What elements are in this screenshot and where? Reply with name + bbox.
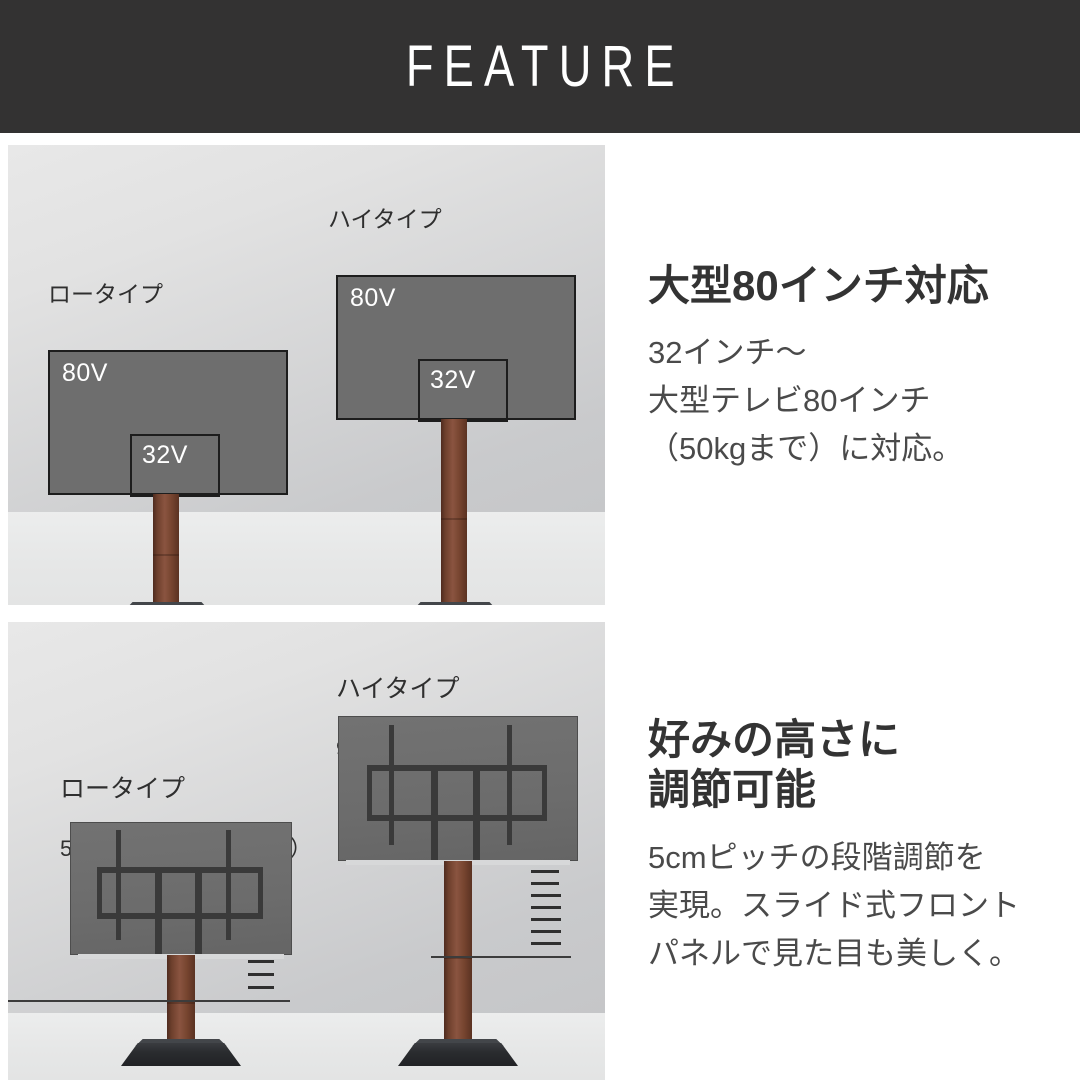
feature-header: FEATURE [0, 0, 1080, 133]
bracket-edge-right-low [258, 867, 263, 919]
body-size-support: 32インチ〜 大型テレビ80インチ （50kgまで）に対応。 [648, 329, 1068, 473]
bracket-crossbar-top-high [367, 765, 547, 771]
scale-tick [248, 986, 274, 989]
scale-tick [248, 973, 274, 976]
base-top-high [414, 602, 496, 605]
height-scale-high [531, 870, 573, 955]
caption-high-type: ハイタイプ [328, 205, 442, 234]
bracket-edge-left-low [97, 867, 102, 919]
stand-pole-high [441, 419, 467, 605]
bracket-rail-right-low [226, 830, 231, 940]
scale-tick [531, 930, 561, 933]
stand-base-low-rear [121, 1043, 241, 1066]
caption-high-type-2-main: ハイタイプ [336, 673, 588, 705]
tv-label-32v-low: 32V [142, 441, 188, 470]
text-block-size-support: 大型80インチ対応 32インチ〜 大型テレビ80インチ （50kgまで）に対応。 [648, 261, 1068, 474]
bracket-rail-left-high [389, 725, 394, 845]
vesa-bracket-low [71, 823, 291, 954]
scale-tick [531, 918, 561, 921]
scale-tick [531, 882, 559, 885]
bracket-crossbar-top-low [97, 867, 263, 873]
text-block-height-adjust: 好みの高さに 調節可能 5cmピッチの段階調節を 実現。スライド式フロント パネ… [648, 715, 1068, 978]
bracket-edge-left-high [367, 765, 372, 821]
caption-low-type: ロータイプ [48, 280, 163, 309]
tv-screen-80v-high: 80V 32V [336, 275, 576, 420]
tv-label-80v-low: 80V [62, 359, 108, 388]
illustration-tv-size-comparison: ロータイプ ハイタイプ 80V 32V 80V 32V [8, 145, 605, 605]
base-top-low [126, 602, 208, 605]
stand-pole-high-rear [444, 861, 472, 1046]
bracket-edge-right-high [542, 765, 547, 821]
base-plate-high-rear [398, 1043, 518, 1066]
scale-tick [248, 960, 274, 963]
scale-tick [531, 894, 561, 897]
tv-label-32v-high: 32V [430, 366, 476, 395]
scale-tick [531, 870, 559, 873]
tv-rear-high [338, 716, 578, 861]
vesa-bracket-high [339, 717, 577, 860]
stand-base-high-rear [398, 1043, 518, 1066]
bracket-crossbar-bottom-high [367, 815, 547, 821]
bracket-column-left-high [431, 765, 438, 862]
tv-rear-low [70, 822, 292, 955]
section-size-support: ロータイプ ハイタイプ 80V 32V 80V 32V [0, 145, 1080, 605]
bracket-rail-left-low [116, 830, 121, 940]
bracket-column-right-high [473, 765, 480, 862]
scale-baseline [431, 956, 571, 958]
bracket-column-right-low [195, 867, 202, 956]
headline-size-support: 大型80インチ対応 [648, 261, 1068, 311]
stand-pole-low [153, 494, 179, 605]
scale-baseline [8, 1000, 290, 1002]
tv-label-80v-high: 80V [350, 284, 396, 313]
section-height-adjust: ハイタイプ 9段階調節（5cmピッチ） ロータイプ 5段階調節（5cmピッチ） [0, 622, 1080, 1080]
bracket-crossbar-bottom-low [97, 913, 263, 919]
page-title: FEATURE [396, 33, 685, 100]
scale-tick [531, 942, 561, 945]
body-height-adjust: 5cmピッチの段階調節を 実現。スライド式フロント パネルで見た目も美しく。 [648, 834, 1068, 978]
base-plate-low-rear [121, 1043, 241, 1066]
floor-band [8, 512, 605, 605]
scale-tick [531, 906, 561, 909]
tv-inset-32v-low: 32V [130, 434, 220, 497]
tv-screen-80v-low: 80V 32V [48, 350, 288, 495]
bracket-rail-right-high [507, 725, 512, 845]
tv-inset-32v-high: 32V [418, 359, 508, 422]
bracket-column-left-low [155, 867, 162, 956]
illustration-height-adjustment: ハイタイプ 9段階調節（5cmピッチ） ロータイプ 5段階調節（5cmピッチ） [8, 622, 605, 1080]
headline-height-adjust: 好みの高さに 調節可能 [648, 715, 1068, 816]
caption-low-type-2-main: ロータイプ [60, 773, 312, 805]
height-scale-low [248, 960, 290, 1005]
